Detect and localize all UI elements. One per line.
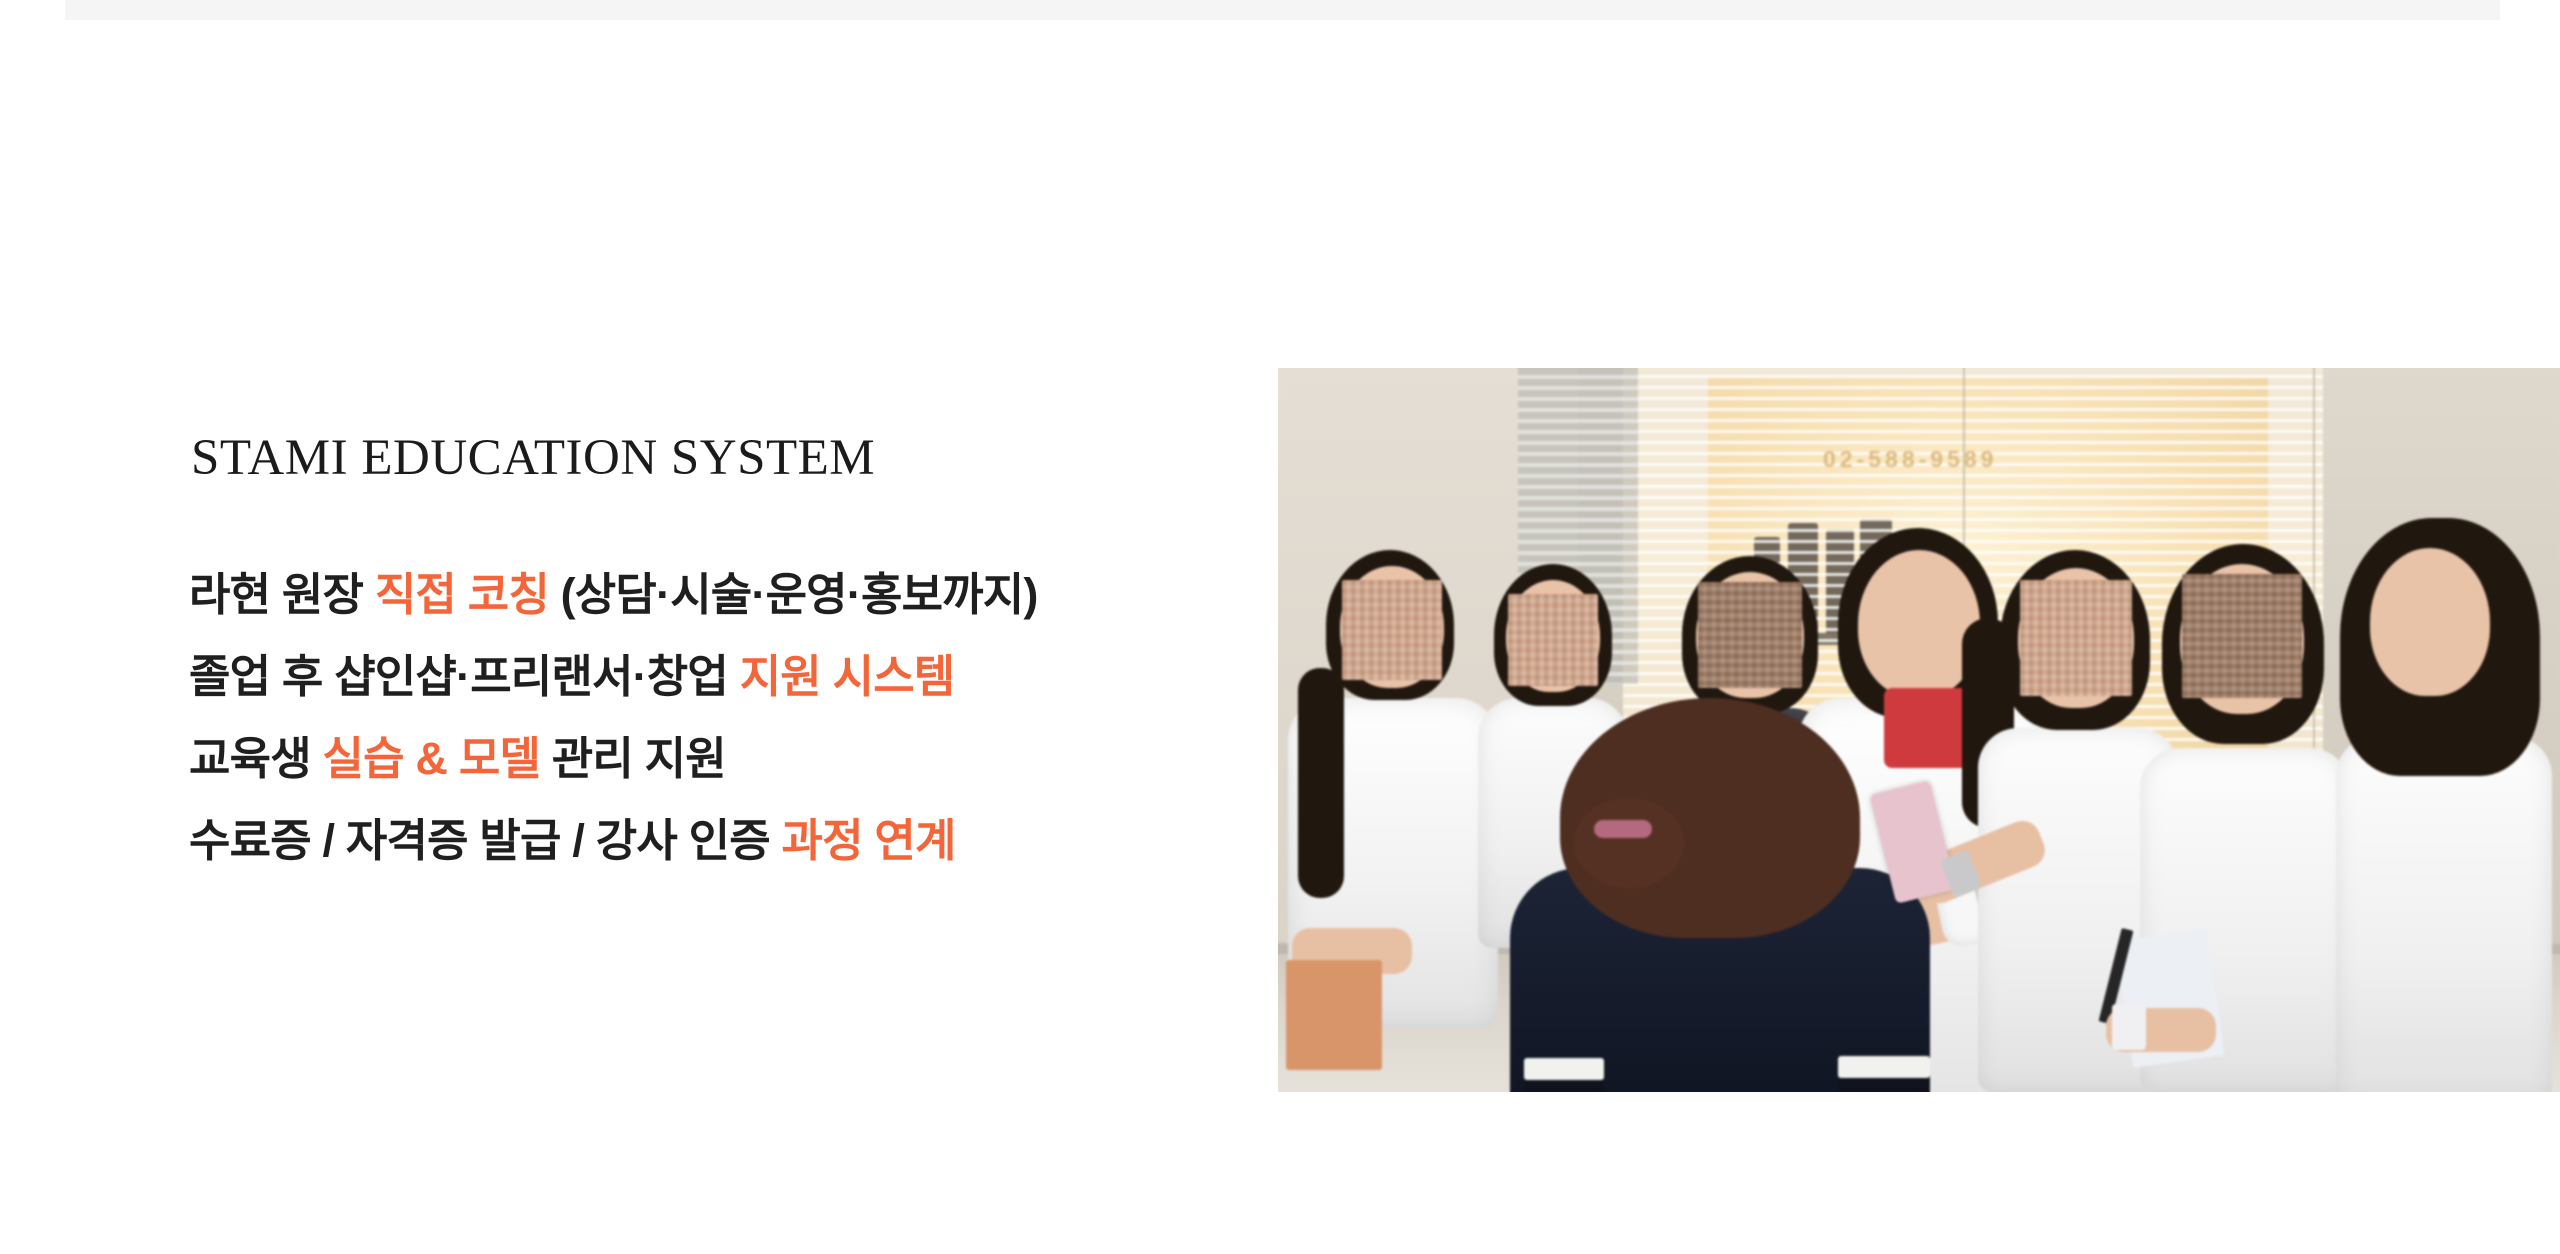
bullet-2-seg-2: 관리 지원 [540,733,726,784]
slide-root: STAMI EDUCATION SYSTEM 라현 원장 직접 코칭 (상담·시… [0,0,2560,1254]
bullet-0-seg-0: 라현 원장 [189,569,375,620]
bullet-2-seg-0: 교육생 [189,733,323,784]
bullet-2-seg-1: 실습 & 모델 [323,733,541,784]
bullet-3-seg-1: 과정 연계 [782,815,956,866]
feature-list: 라현 원장 직접 코칭 (상담·시술·운영·홍보까지) 졸업 후 샵인샵·프리랜… [189,554,1229,882]
bullet-1-seg-1: 지원 시스템 [740,651,955,702]
list-item: 교육생 실습 & 모델 관리 지원 [189,718,1229,800]
bullet-0-seg-1: 직접 코칭 [375,569,549,620]
text-column: STAMI EDUCATION SYSTEM 라현 원장 직접 코칭 (상담·시… [189,430,1229,882]
bullet-3-seg-0: 수료증 / 자격증 발급 / 강사 인증 [189,815,782,866]
education-photo: 02-588-9589 [1278,368,2560,1092]
page-title: STAMI EDUCATION SYSTEM [191,430,1229,486]
bullet-1-seg-0: 졸업 후 샵인샵·프리랜서·창업 [189,651,740,702]
list-item: 수료증 / 자격증 발급 / 강사 인증 과정 연계 [189,800,1229,882]
list-item: 졸업 후 샵인샵·프리랜서·창업 지원 시스템 [189,636,1229,718]
photo-scene: 02-588-9589 [1278,368,2560,1092]
sign-number: 02-588-9589 [1823,446,1997,473]
top-gray-strip [65,0,2500,20]
bullet-0-seg-2: (상담·시술·운영·홍보까지) [549,569,1038,620]
list-item: 라현 원장 직접 코칭 (상담·시술·운영·홍보까지) [189,554,1229,636]
